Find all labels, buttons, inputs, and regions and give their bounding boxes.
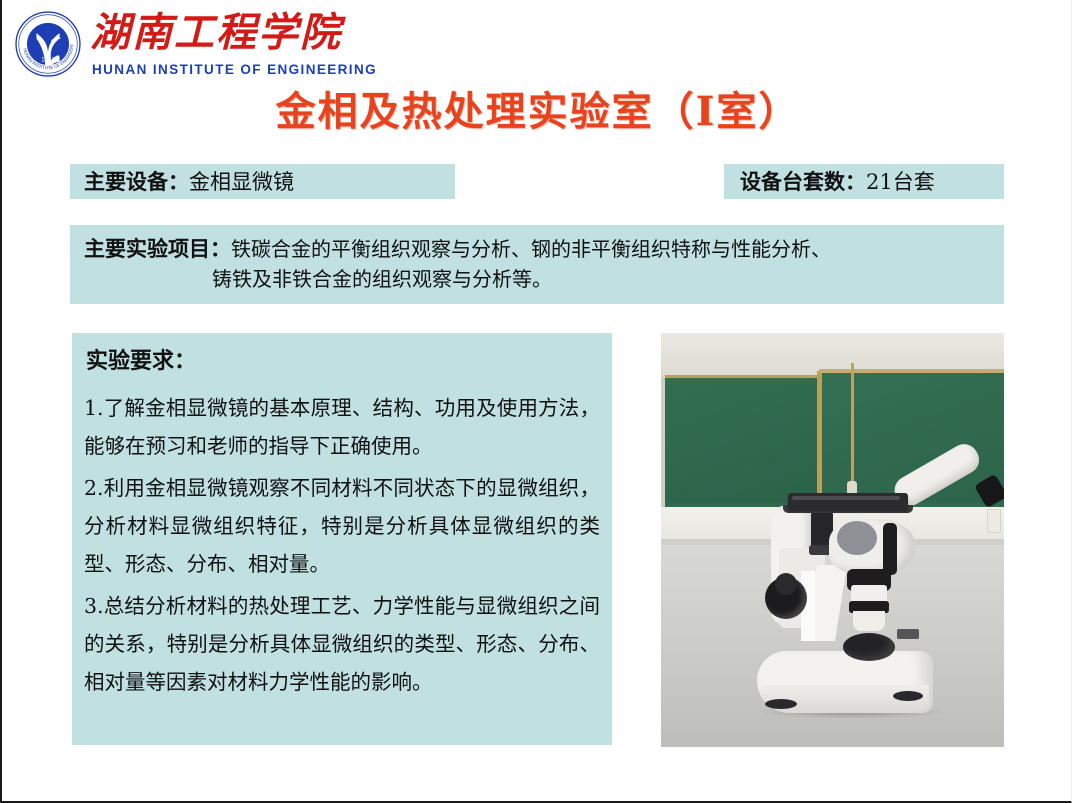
requirement-item: 2.利用金相显微镜观察不同材料不同状态下的显微组织，分析材料显微组织特征，特别是… [84, 469, 600, 583]
projects-label: 主要实验项目： [84, 236, 231, 261]
requirement-item: 1.了解金相显微镜的基本原理、结构、功用及使用方法，能够在预习和老师的指导下正确… [84, 389, 600, 465]
microscope-head-optics [837, 521, 877, 555]
count-label: 设备台套数： [740, 169, 866, 194]
requirements-list: 1.了解金相显微镜的基本原理、结构、功用及使用方法，能够在预习和老师的指导下正确… [84, 389, 600, 705]
microscope-foot [893, 691, 923, 701]
chalkboard-panel-left [665, 378, 817, 503]
microscope-foot [765, 699, 797, 709]
equipment-box: 主要设备：金相显微镜 [70, 164, 455, 199]
requirements-title: 实验要求： [86, 343, 196, 375]
illuminator-housing [843, 633, 895, 661]
equipment-count-box: 设备台套数：21台套 [724, 164, 1004, 199]
chalkboard-frame-top [819, 369, 1004, 373]
microscope-photo [661, 333, 1004, 747]
count-value: 21台套 [866, 170, 935, 194]
count-line: 设备台套数：21台套 [724, 164, 1004, 197]
requirement-item: 3.总结分析材料的热处理工艺、力学性能与显微组织之间的关系，特别是分析具体显微组… [84, 587, 600, 701]
seal-year: 1951 [41, 57, 55, 64]
slide-canvas: 1951 HUNAN INSTITUTE OF ENGINEERING 湖南工程… [0, 0, 1072, 803]
university-seal-icon: 1951 HUNAN INSTITUTE OF ENGINEERING [14, 10, 82, 78]
specimen-stage-lip [792, 496, 900, 500]
wall-outlet [987, 509, 1001, 533]
page-title: 金相及热处理实验室（Ⅰ室） [2, 88, 1072, 136]
projects-value-1: 铁碳合金的平衡组织观察与分析、钢的非平衡组织特称与性能分析、 [231, 237, 831, 261]
projects-line-2: 铸铁及非铁合金的组织观察与分析等。 [84, 264, 994, 294]
projects-line-1: 主要实验项目：铁碳合金的平衡组织观察与分析、钢的非平衡组织特称与性能分析、 [84, 234, 994, 264]
pointer-rod [851, 363, 854, 493]
requirements-box: 实验要求： 1.了解金相显微镜的基本原理、结构、功用及使用方法，能够在预习和老师… [72, 333, 612, 745]
microscope-head-ring [883, 523, 897, 575]
experiment-projects-box: 主要实验项目：铁碳合金的平衡组织观察与分析、钢的非平衡组织特称与性能分析、 铸铁… [70, 225, 1004, 304]
fine-focus-knob [775, 573, 797, 595]
equipment-line: 主要设备：金相显微镜 [70, 164, 455, 197]
microscope-nameplate [897, 629, 919, 639]
objective-lens-lower [853, 611, 885, 631]
equipment-value: 金相显微镜 [189, 170, 294, 194]
chalkboard-divider [817, 371, 822, 503]
university-logo: 1951 HUNAN INSTITUTE OF ENGINEERING 湖南工程… [14, 8, 334, 80]
university-name-en: HUNAN INSTITUTE OF ENGINEERING [92, 62, 377, 77]
projects-text: 主要实验项目：铁碳合金的平衡组织观察与分析、钢的非平衡组织特称与性能分析、 铸铁… [70, 225, 1004, 294]
university-name-cn: 湖南工程学院 [90, 10, 340, 58]
equipment-label: 主要设备： [84, 169, 189, 194]
